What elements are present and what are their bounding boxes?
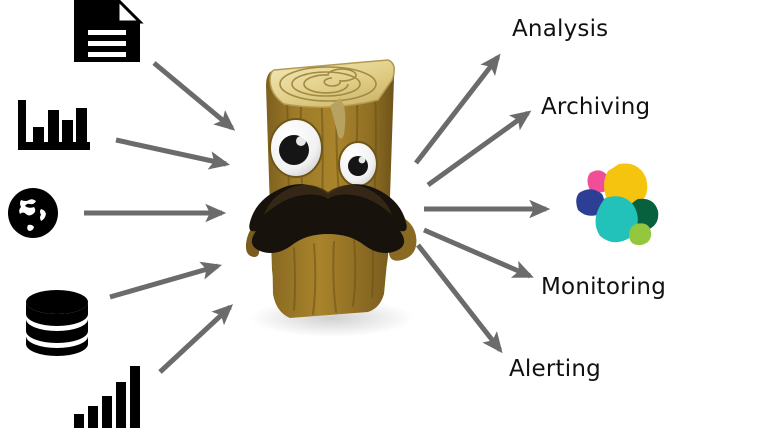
arrow-in-bar-chart bbox=[116, 140, 226, 164]
elastic-logo-icon bbox=[570, 160, 662, 252]
bar-chart-icon bbox=[18, 100, 90, 150]
arrow-in-database bbox=[110, 266, 218, 297]
arrow-out-analysis bbox=[416, 57, 498, 163]
output-label-monitoring: Monitoring bbox=[541, 276, 666, 299]
signal-bars-icon bbox=[74, 364, 140, 428]
logstash-mascot bbox=[228, 42, 428, 340]
arrow-in-document bbox=[154, 63, 232, 128]
document-icon bbox=[74, 0, 140, 62]
mascot-eye-left bbox=[270, 119, 322, 177]
database-icon bbox=[26, 290, 88, 356]
output-label-alerting: Alerting bbox=[509, 358, 601, 381]
output-label-analysis: Analysis bbox=[512, 18, 608, 41]
diagram-canvas: Analysis Archiving Monitoring Alerting bbox=[0, 0, 782, 428]
mascot-eye-right bbox=[339, 142, 377, 186]
output-label-archiving: Archiving bbox=[541, 96, 650, 119]
arrow-in-signal bbox=[160, 307, 230, 372]
arrow-out-alerting bbox=[418, 245, 500, 350]
arrow-out-archiving bbox=[428, 113, 528, 185]
globe-icon bbox=[8, 188, 58, 238]
elastic-petal-lightgreen bbox=[629, 223, 651, 245]
